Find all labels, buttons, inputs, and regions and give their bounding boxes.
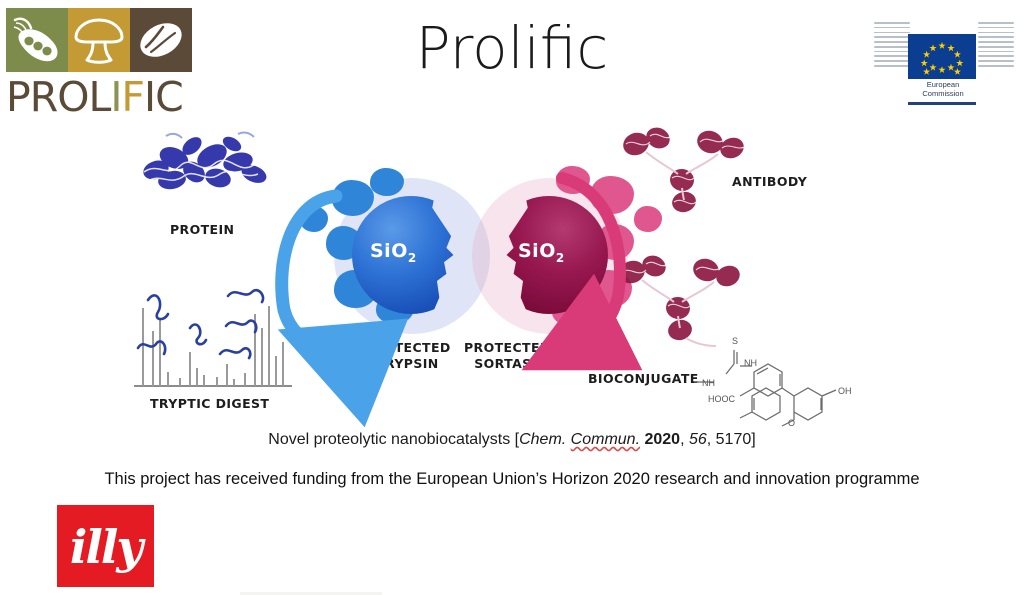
protected-trypsin-label: PROTECTED TRYPSIN bbox=[364, 340, 451, 372]
sortase-blob bbox=[556, 166, 590, 194]
antibody-structure-icon bbox=[614, 124, 764, 220]
partner-logos: illy celabor · · · · · · B bbox=[0, 505, 1024, 593]
eu-underline-bar bbox=[908, 102, 976, 105]
slide-root: PROLIFIC Prolific bbox=[0, 0, 1024, 595]
peptide-squiggles-icon bbox=[134, 278, 292, 382]
tryptic-digest-label: TRYPTIC DIGEST bbox=[150, 396, 269, 411]
illy-wordmark: illy bbox=[57, 524, 154, 570]
scientific-diagram: PROTEIN bbox=[118, 118, 908, 430]
atom-label-S: S bbox=[732, 336, 738, 346]
page-title: Prolific bbox=[0, 14, 1024, 82]
partner-logo-illy: illy bbox=[57, 505, 154, 587]
fitc-chemical-structure: S NH NH HOOC O OH bbox=[688, 316, 868, 430]
atom-label-NH-1: NH bbox=[744, 358, 757, 368]
sio2-label-trypsin: SiO2 bbox=[370, 240, 417, 265]
eu-caption: European Commission bbox=[908, 80, 978, 98]
european-commission-logo: European Commission bbox=[874, 18, 1014, 114]
eu-caption-line1: European bbox=[908, 80, 978, 89]
tryptic-digest-spectrum bbox=[134, 286, 292, 390]
antibody-label: ANTIBODY bbox=[732, 174, 807, 189]
atom-label-NH-2: NH bbox=[702, 378, 715, 388]
protein-structure-icon bbox=[134, 128, 294, 206]
eu-caption-line2: Commission bbox=[908, 89, 978, 98]
trypsin-blob bbox=[370, 168, 404, 196]
figure-caption: Novel proteolytic nanobiocatalysts [Chem… bbox=[0, 431, 1024, 449]
bioconjugate-label: BIOCONJUGATE bbox=[588, 371, 699, 386]
atom-label-HOOC: HOOC bbox=[708, 394, 736, 404]
eu-flag-icon bbox=[908, 34, 976, 79]
eu-swoosh-left-icon bbox=[874, 22, 910, 70]
misspelled-word: Commun. bbox=[571, 431, 640, 448]
sio2-label-sortase: SiO2 bbox=[518, 240, 565, 265]
protected-sortase-label: PROTECTED SORTASE bbox=[464, 340, 551, 372]
atom-label-O: O bbox=[788, 418, 795, 428]
atom-label-OH: OH bbox=[838, 386, 852, 396]
trypsin-blob bbox=[332, 180, 374, 216]
trypsin-blob bbox=[300, 206, 328, 232]
protein-label: PROTEIN bbox=[170, 222, 234, 237]
funding-statement: This project has received funding from t… bbox=[0, 470, 1024, 489]
eu-swoosh-right-icon bbox=[978, 22, 1014, 70]
